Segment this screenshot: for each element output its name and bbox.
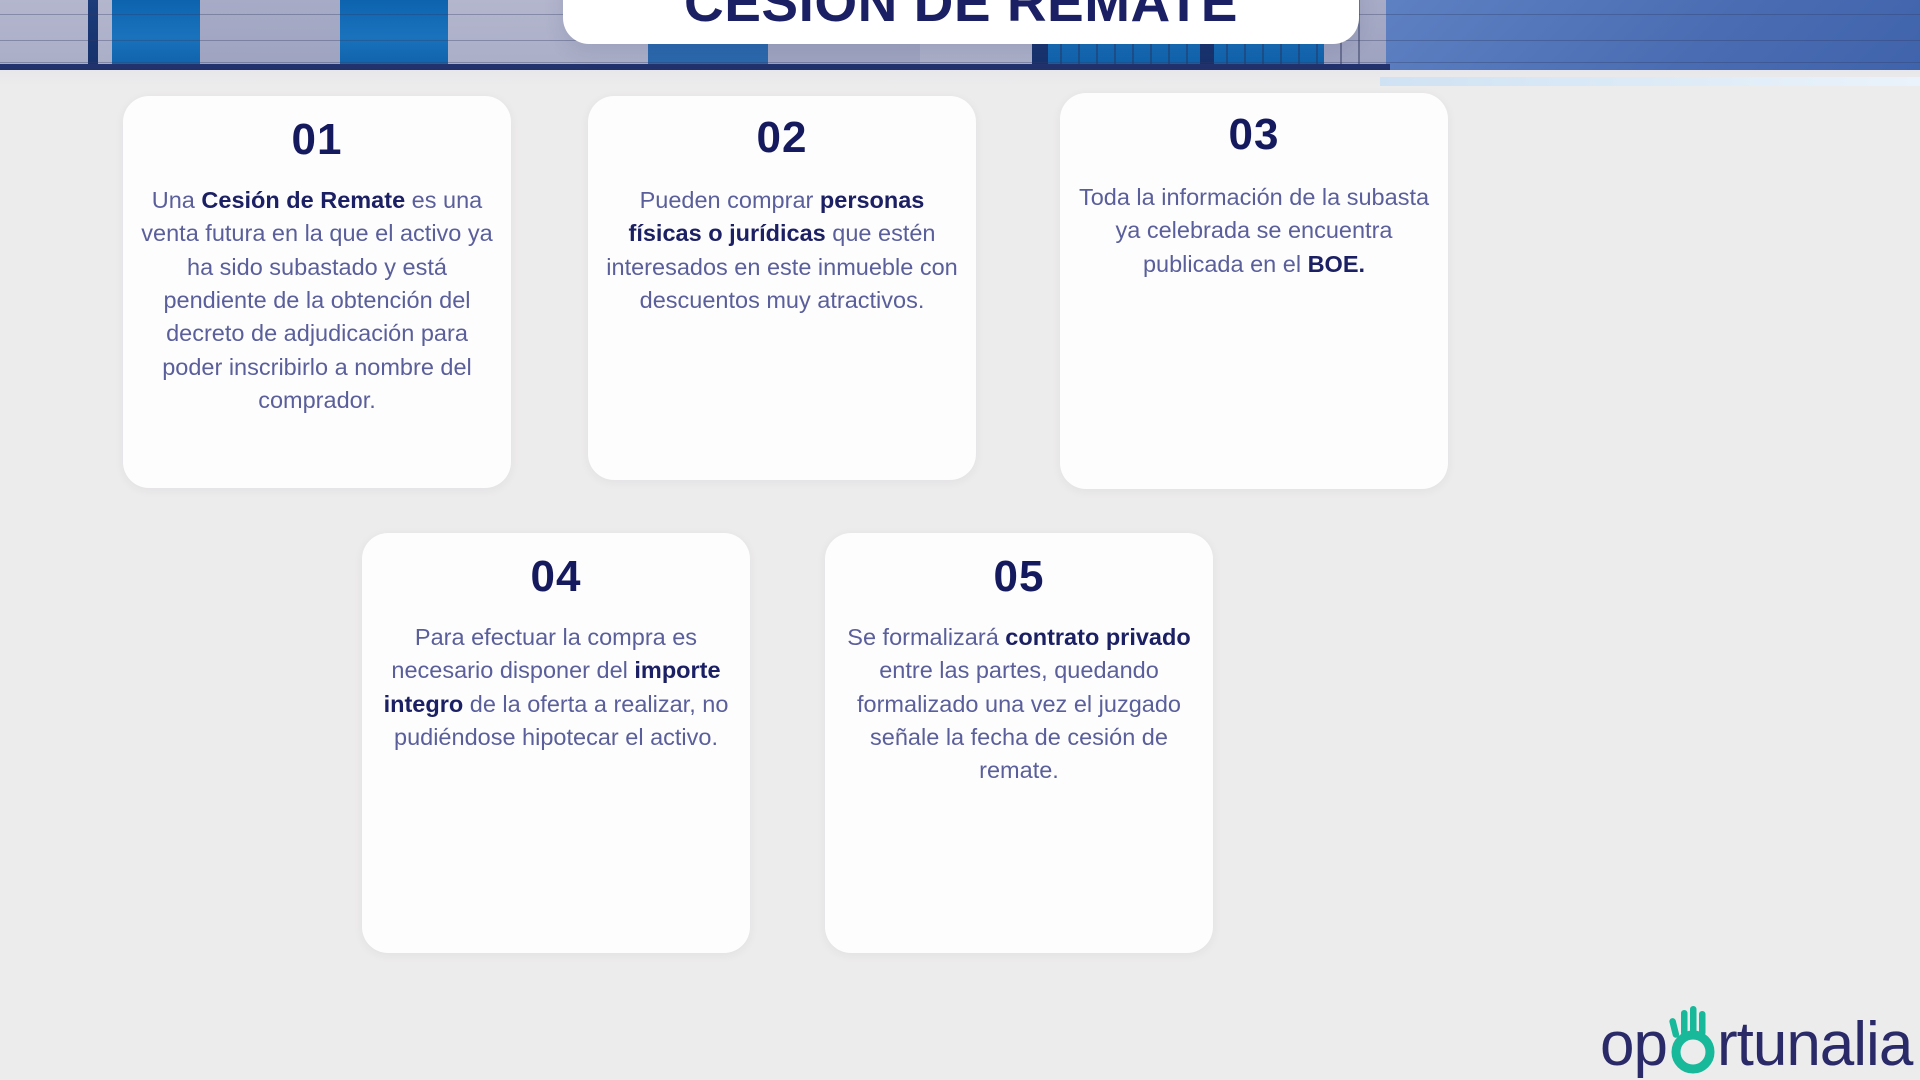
info-card-01: 01 Una Cesión de Remate es una venta fut… xyxy=(123,96,511,488)
info-card-02: 02 Pueden comprar personas físicas o jur… xyxy=(588,96,976,480)
facade-floorline xyxy=(0,62,1920,63)
infographic-page: CESIÓN DE REMATE 01 Una Cesión de Remate… xyxy=(0,0,1920,1080)
card-body: Se formalizará contrato privado entre la… xyxy=(843,621,1195,788)
info-card-04: 04 Para efectuar la compra es necesario … xyxy=(362,533,750,953)
card-body: Para efectuar la compra es necesario dis… xyxy=(380,621,732,754)
ground-strip-right xyxy=(1380,77,1920,86)
card-number: 02 xyxy=(606,116,958,160)
card-number: 05 xyxy=(843,555,1195,599)
card-number: 03 xyxy=(1078,113,1430,157)
info-card-03: 03 Toda la información de la subasta ya … xyxy=(1060,93,1448,489)
card-body: Una Cesión de Remate es una venta futura… xyxy=(141,184,493,418)
logo-text-before: op xyxy=(1600,1014,1667,1076)
ok-hand-icon xyxy=(1665,1018,1719,1072)
card-number: 01 xyxy=(141,118,493,162)
card-number: 04 xyxy=(380,555,732,599)
card-body: Pueden comprar personas físicas o jurídi… xyxy=(606,184,958,317)
logo-text-after: rtunalia xyxy=(1717,1014,1912,1076)
info-card-05: 05 Se formalizará contrato privado entre… xyxy=(825,533,1213,953)
brand-logo[interactable]: op rtunalia xyxy=(1600,1014,1912,1076)
page-title: CESIÓN DE REMATE xyxy=(684,0,1238,34)
card-body: Toda la información de la subasta ya cel… xyxy=(1078,181,1430,281)
title-plate: CESIÓN DE REMATE xyxy=(563,0,1359,44)
